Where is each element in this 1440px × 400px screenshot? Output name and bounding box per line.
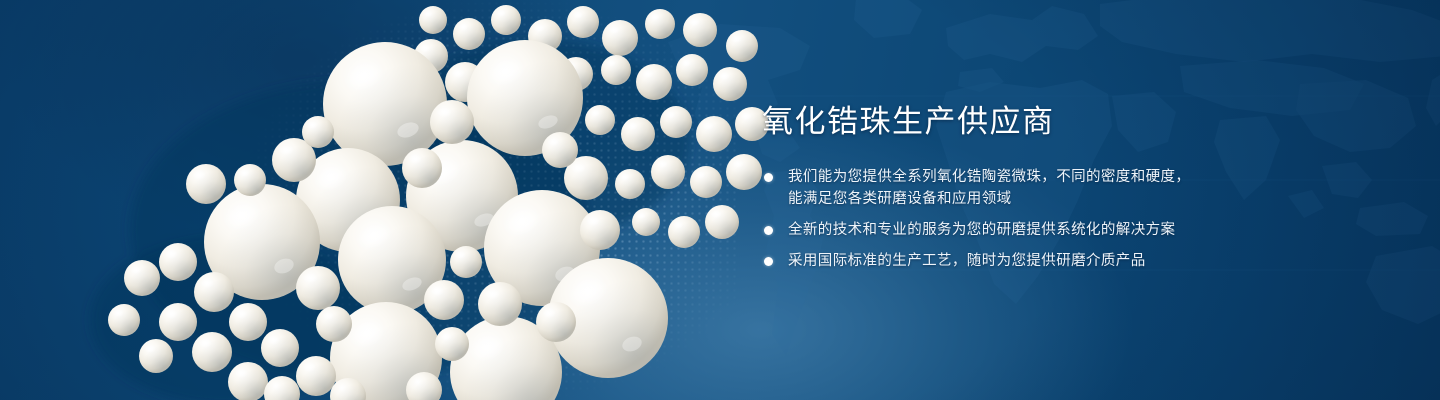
list-item: 采用国际标准的生产工艺，随时为您提供研磨介质产品 (762, 250, 1382, 272)
list-item-line1: 采用国际标准的生产工艺，随时为您提供研磨介质产品 (788, 253, 1146, 269)
bullet-dot-icon (764, 173, 773, 182)
bullet-dot-icon (764, 226, 773, 235)
feature-list: 我们能为您提供全系列氧化锆陶瓷微珠，不同的密度和硬度， 能满足您各类研磨设备和应… (762, 166, 1382, 272)
list-item: 全新的技术和专业的服务为您的研磨提供系统化的解决方案 (762, 219, 1382, 241)
list-item-line1: 我们能为您提供全系列氧化锆陶瓷微珠，不同的密度和硬度， (788, 169, 1190, 185)
bullet-dot-icon (764, 257, 773, 266)
list-item-line2: 能满足您各类研磨设备和应用领域 (788, 188, 1382, 210)
page-title: 氧化锆珠生产供应商 (762, 104, 1382, 140)
banner-copy: 氧化锆珠生产供应商 我们能为您提供全系列氧化锆陶瓷微珠，不同的密度和硬度， 能满… (762, 104, 1382, 281)
hero-banner: 氧化锆珠生产供应商 我们能为您提供全系列氧化锆陶瓷微珠，不同的密度和硬度， 能满… (0, 0, 1440, 400)
list-item: 我们能为您提供全系列氧化锆陶瓷微珠，不同的密度和硬度， 能满足您各类研磨设备和应… (762, 166, 1382, 210)
list-item-line1: 全新的技术和专业的服务为您的研磨提供系统化的解决方案 (788, 222, 1175, 238)
